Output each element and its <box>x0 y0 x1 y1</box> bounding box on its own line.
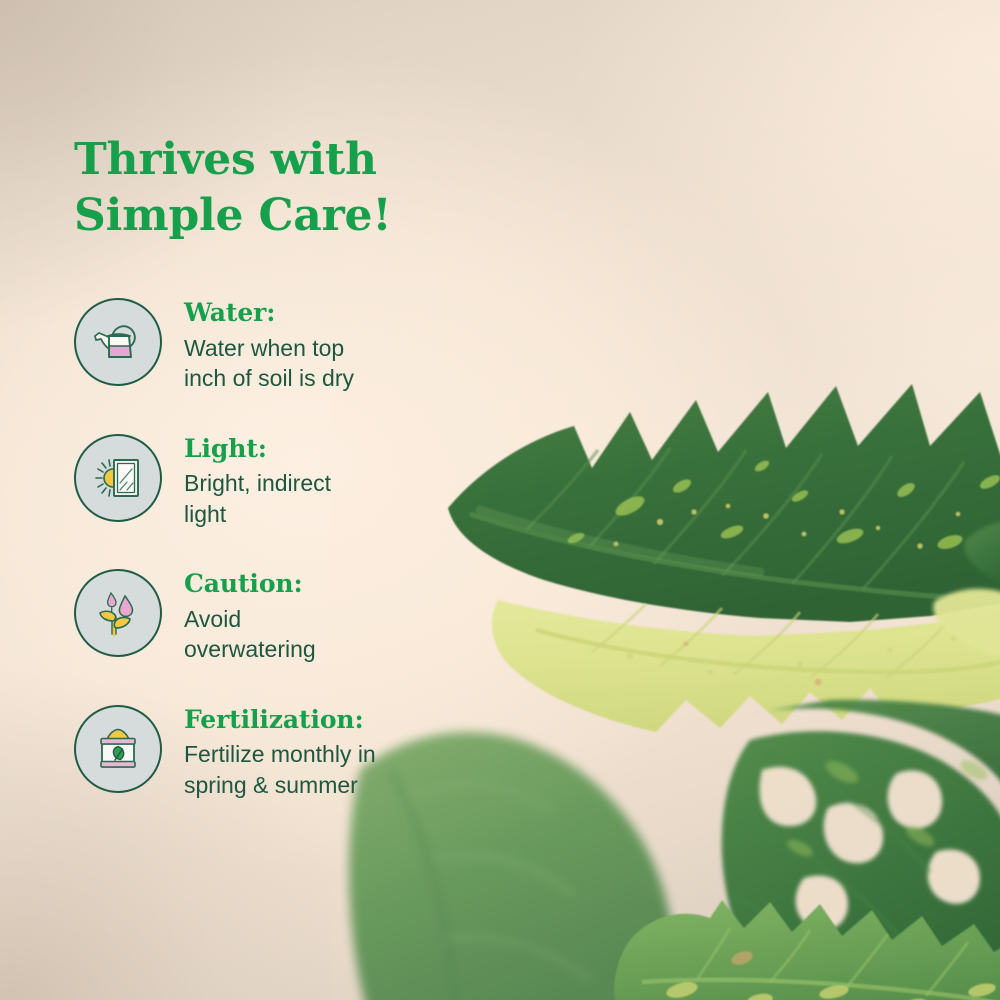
care-label-light: Light: <box>184 434 331 465</box>
care-instructions-list: Water: Water when top inch of soil is dr… <box>74 296 424 801</box>
care-text-fertilization: Fertilization: Fertilize monthly in spri… <box>162 703 376 801</box>
sprout-droplets-icon <box>74 569 162 657</box>
care-label-fertilization: Fertilization: <box>184 705 376 736</box>
plant-photo <box>330 300 1000 1000</box>
page-title: Thrives with Simple Care! <box>74 132 494 243</box>
care-text-light: Light: Bright, indirect light <box>162 432 331 530</box>
infographic-canvas: Thrives with Simple Care! <box>0 0 1000 1000</box>
care-text-caution: Caution: Avoid overwatering <box>162 567 316 665</box>
care-item-caution: Caution: Avoid overwatering <box>74 567 424 665</box>
care-desc-light: Bright, indirect light <box>184 468 331 529</box>
care-item-water: Water: Water when top inch of soil is dr… <box>74 296 424 394</box>
care-desc-fertilization: Fertilize monthly in spring & summer <box>184 739 376 800</box>
fertilizer-bag-icon <box>74 705 162 793</box>
window-sun-icon <box>74 434 162 522</box>
care-text-water: Water: Water when top inch of soil is dr… <box>162 296 354 394</box>
care-item-fertilization: Fertilization: Fertilize monthly in spri… <box>74 703 424 801</box>
care-desc-caution: Avoid overwatering <box>184 604 316 665</box>
watering-can-icon <box>74 298 162 386</box>
care-label-caution: Caution: <box>184 569 316 600</box>
care-item-light: Light: Bright, indirect light <box>74 432 424 530</box>
care-desc-water: Water when top inch of soil is dry <box>184 333 354 394</box>
care-label-water: Water: <box>184 298 354 329</box>
